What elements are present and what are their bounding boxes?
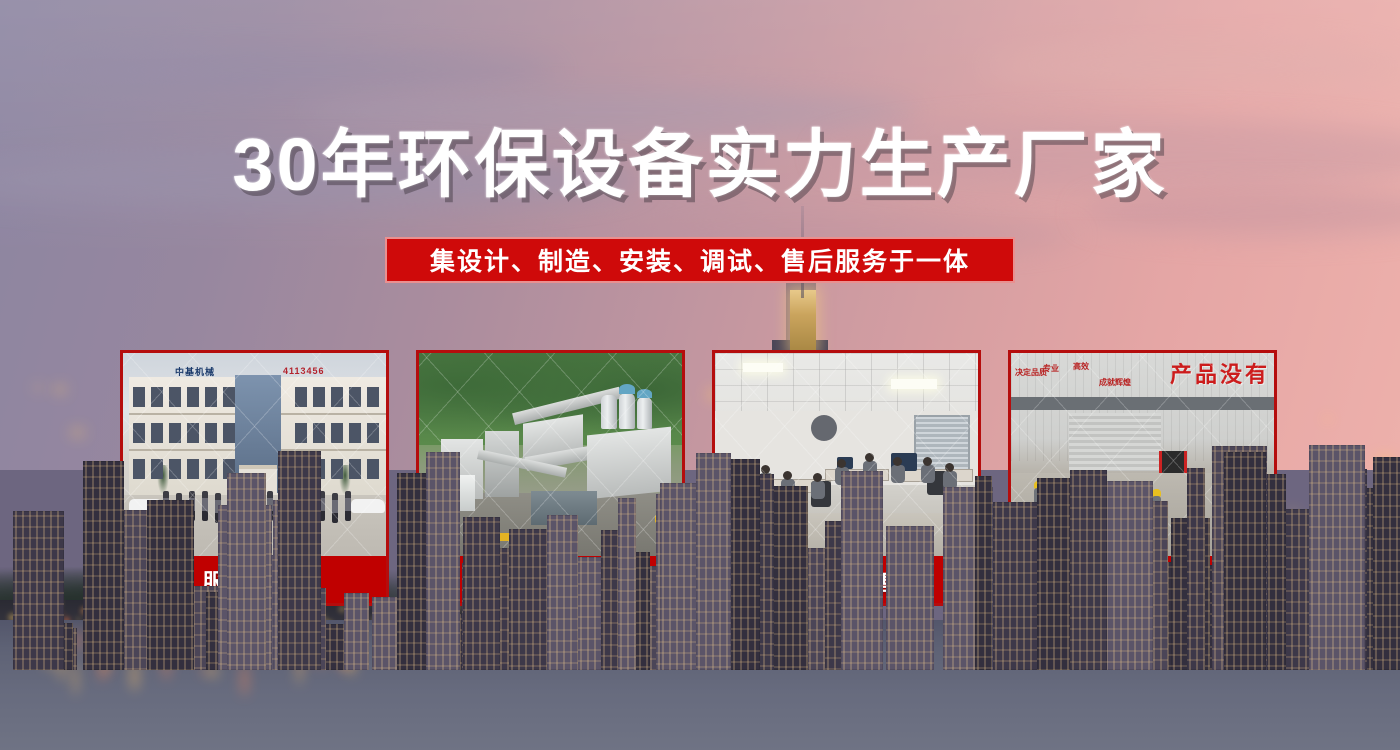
factory-wall-slogan: 高效 <box>1073 363 1089 372</box>
cloud-band <box>980 40 1400 90</box>
building-phone-text: 4113456 <box>283 366 325 376</box>
factory-wall-text: 产品没有 <box>1170 357 1270 389</box>
subtitle-text: 集设计、制造、安装、调试、售后服务于一体 <box>430 242 970 278</box>
cloud-band <box>60 50 560 90</box>
factory-wall-slogan: 成就辉煌 <box>1099 379 1131 388</box>
subtitle-banner: 集设计、制造、安装、调试、售后服务于一体 <box>385 237 1015 283</box>
page-title: 30年环保设备实力生产厂家 <box>0 128 1400 202</box>
hero-banner: 30年环保设备实力生产厂家 集设计、制造、安装、调试、售后服务于一体 中基机械 … <box>0 0 1400 750</box>
tower-crown-light <box>790 290 816 352</box>
factory-wall-slogan: 专业 <box>1043 365 1059 374</box>
building-sign-text: 中基机械 <box>175 365 215 378</box>
